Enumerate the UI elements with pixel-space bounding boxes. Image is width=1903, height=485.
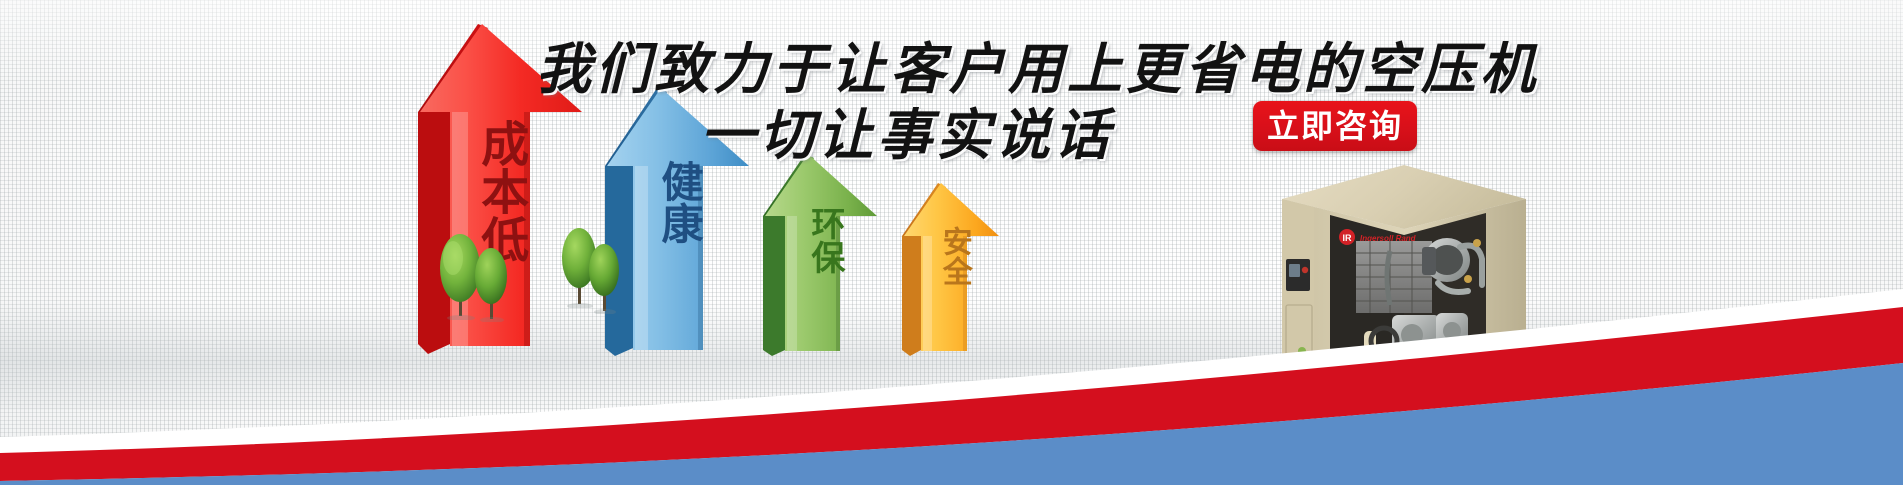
headline-line-2: 一切让事实说话 — [700, 90, 1113, 170]
bottom-swoosh-decoration — [0, 285, 1903, 485]
consult-now-button[interactable]: 立即咨询 — [1253, 101, 1417, 151]
svg-text:IR: IR — [1343, 233, 1353, 243]
promo-banner: 成本低 健康 — [0, 0, 1903, 485]
